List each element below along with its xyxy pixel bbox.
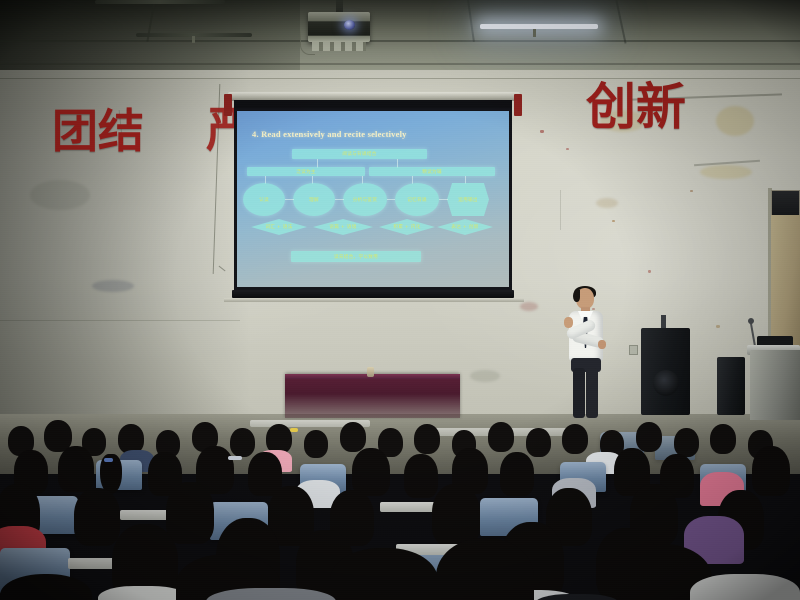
audience-head [230, 428, 255, 457]
audience-body [690, 574, 800, 600]
diagram-link: 积累 + 内化 [379, 219, 435, 235]
audience-head [404, 454, 438, 498]
audience-head [414, 424, 440, 454]
audience-head [710, 424, 736, 454]
audience-head [166, 482, 214, 544]
ceiling-shadow [0, 0, 300, 78]
screen-bottom-bar [232, 290, 514, 298]
screen-bezel: 4. Read extensively and recite selective… [234, 108, 512, 290]
diagram-node: 记忆背诵 [395, 183, 439, 216]
fluorescent-tube-unlit-icon [95, 0, 225, 4]
diagram-level2-left: 泛读为主 [247, 167, 365, 176]
diagram-node: 分析与鉴赏 [343, 183, 387, 216]
door-transom-window [771, 190, 800, 218]
wall-banner-left: 团结 [52, 108, 144, 154]
hair-clip [290, 428, 298, 432]
audience [0, 398, 800, 600]
lecture-hall-photo: 团结 严 创新 4. Read extensively and recite s… [0, 0, 800, 600]
screen-bracket-right [514, 94, 522, 116]
ceiling-seam [0, 63, 800, 65]
projector-cable [300, 30, 315, 55]
audience-head [500, 452, 534, 496]
wall-banner-right: 创新 [586, 82, 686, 132]
diagram-bottom-bar: 读背结合，学以致用 [291, 251, 421, 262]
audience-head [340, 422, 366, 452]
audience-head [526, 428, 551, 457]
ceiling-seam [615, 0, 626, 43]
slide-canvas: 4. Read extensively and recite selective… [237, 111, 509, 287]
ceiling-seam [467, 0, 474, 42]
side-door[interactable] [771, 215, 800, 355]
ceiling-projector [308, 12, 370, 42]
audience-head [352, 448, 390, 496]
projection-screen[interactable]: 4. Read extensively and recite selective… [234, 100, 512, 300]
diagram-node: 认读 [243, 183, 285, 216]
slide-title: 4. Read extensively and recite selective… [252, 129, 407, 139]
audience-head [562, 424, 588, 454]
diagram-level2-right: 精读为辅 [369, 167, 495, 176]
projector-base [312, 42, 366, 51]
speaker-cone-icon [653, 370, 679, 396]
presenter-hand-lower [598, 340, 606, 349]
audience-head [488, 422, 514, 452]
light-stem [192, 36, 195, 43]
screen-rail [224, 298, 524, 302]
hair-clip [104, 458, 113, 462]
light-stem [533, 29, 536, 37]
audience-head [752, 446, 790, 496]
audience-head [432, 484, 480, 546]
hair-clip [228, 456, 242, 460]
audience-body [98, 586, 188, 600]
fluorescent-tube-lit-icon [480, 24, 598, 29]
table-object [367, 367, 374, 377]
diagram-node: 理解 [293, 183, 335, 216]
presenter-hair-side [573, 290, 580, 302]
wall-socket [629, 345, 638, 355]
audience-head [674, 428, 699, 457]
diagram-link: 词汇 + 语法 [251, 219, 307, 235]
microphone-icon [748, 318, 754, 324]
audience-head [74, 488, 120, 546]
diagram-link: 表达 + 创新 [437, 219, 493, 235]
ceiling-seam [0, 40, 800, 42]
audience-head [58, 446, 94, 492]
diagram-node: 运用输出 [447, 183, 489, 216]
presenter-hand-raised [564, 317, 573, 328]
audience-head [330, 548, 438, 600]
projector-lens-icon [344, 20, 355, 30]
audience-head [304, 430, 328, 458]
diagram-top-bar: 阅读与背诵结合 [292, 149, 427, 159]
diagram-link: 语篇 + 语境 [313, 219, 373, 235]
ceiling [0, 0, 800, 78]
audience-head [636, 422, 662, 452]
screen-bracket-left [224, 94, 232, 116]
